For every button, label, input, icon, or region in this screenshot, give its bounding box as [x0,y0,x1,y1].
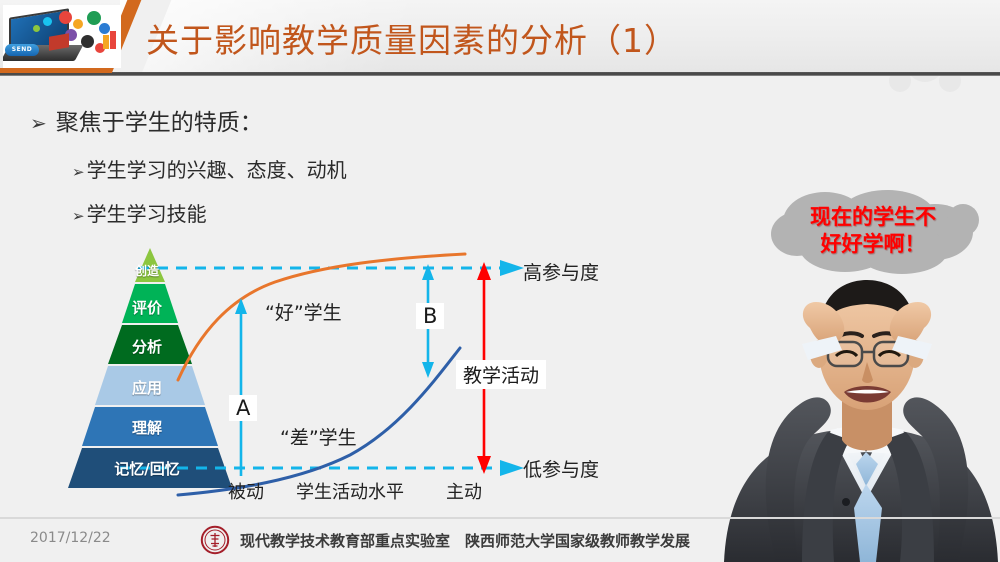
header-divider [0,72,1000,76]
bullet-level2-text: 学生学习技能 [87,202,207,226]
x-tick-passive: 被动 [228,478,264,504]
axis-label-low-engagement: 低参与度 [523,455,599,482]
pyramid-level-label-4: 理解 [112,417,182,438]
series-label-poor-student: “差”学生 [280,423,357,450]
bullet-marker-icon: ➢ [30,111,47,135]
annotation-label-instructional-activity: 教学活动 [456,360,546,389]
x-tick-active: 主动 [446,478,482,504]
slide-header: SEND 关于影响教学质量因素的分析（1） [0,0,1000,76]
pyramid-level-label-5: 记忆/回忆 [97,458,197,479]
bullet-marker-icon: ➢ [72,163,85,181]
series-label-good-student: “好”学生 [265,298,342,325]
pyramid-level-label-3: 应用 [112,377,182,398]
x-axis-title: 学生活动水平 [296,478,404,504]
footer-date: 2017/12/22 [30,530,111,546]
bullet-level2-item-0: ➢学生学习的兴趣、态度、动机 [72,154,347,183]
pyramid-level-label-2: 分析 [112,336,182,357]
annotation-arrow-a [235,298,247,476]
bullet-level2-item-1: ➢学生学习技能 [72,198,207,227]
header-divider-accent [0,68,112,73]
bullet-level1-text: 聚焦于学生的特质： [56,110,263,136]
send-badge-label: SEND [5,44,39,56]
axis-label-high-engagement: 高参与度 [523,258,599,285]
bullet-level1: ➢聚焦于学生的特质： [30,103,263,137]
frustrated-teacher-photo [718,240,1000,562]
bullet-marker-icon: ➢ [72,207,85,225]
send-badge: SEND [5,44,39,56]
pyramid-level-label-0: 创造 [112,262,182,279]
footer-organization: 现代教学技术教育部重点实验室 陕西师范大学国家级教师教学发展 [240,530,690,551]
annotation-label-b: B [416,303,444,329]
blooms-taxonomy-pyramid [68,248,232,488]
bullet-level2-text: 学生学习的兴趣、态度、动机 [87,158,347,182]
slide-canvas: SEND 关于影响教学质量因素的分析（1） ➢聚焦于学生的特质： ➢学生学习的兴… [0,0,1000,562]
annotation-label-a: A [229,395,257,421]
laptop-multimedia-icon: SEND [3,5,121,68]
pyramid-level-label-1: 评价 [112,297,182,318]
speech-bubble-line-1: 现在的学生不 [767,204,979,231]
footer-divider [0,517,1000,519]
page-title: 关于影响教学质量因素的分析（1） [146,14,678,62]
university-seal-icon [200,525,230,555]
